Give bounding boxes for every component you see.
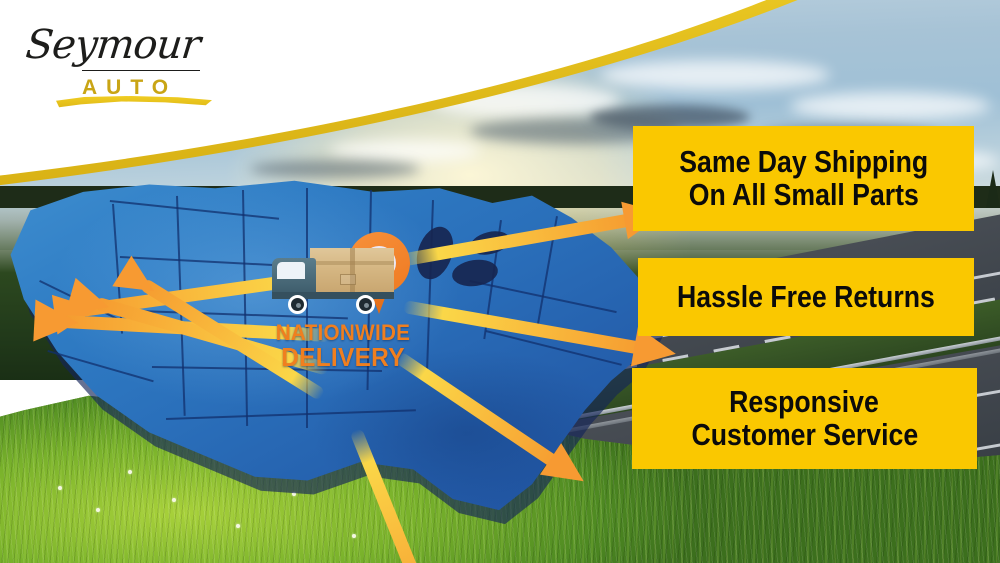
badge-line-2: DELIVERY: [268, 344, 418, 371]
truck-wheel: [288, 295, 307, 314]
nationwide-delivery-badge: NATIONWIDE DELIVERY: [263, 322, 423, 371]
box-tape: [350, 248, 355, 292]
seymour-auto-logo[interactable]: Seymour AUTO: [22, 18, 222, 110]
feature-box-same-day-shipping[interactable]: Same Day Shipping On All Small Parts: [633, 126, 974, 231]
logo-script-name: Seymour: [24, 22, 202, 68]
promo-banner: Seymour AUTO: [0, 0, 1000, 563]
feature-box-responsive-customer-service[interactable]: Responsive Customer Service: [632, 368, 977, 469]
feature-line-1: Responsive: [730, 386, 880, 419]
cloud-shape: [600, 60, 830, 90]
cloud-shape: [330, 140, 480, 162]
delivery-truck-icon: [272, 248, 394, 318]
feature-box-hassle-free-returns[interactable]: Hassle Free Returns: [638, 258, 974, 336]
logo-swoosh-icon: [56, 96, 212, 112]
logo-divider-line: [82, 70, 200, 71]
badge-line-1: NATIONWIDE: [268, 322, 418, 344]
tree-shape: [986, 170, 1000, 208]
feature-line-2: On All Small Parts: [688, 179, 918, 212]
feature-line-1: Hassle Free Returns: [677, 281, 935, 314]
cloud-shape: [790, 92, 990, 120]
truck-wheel: [356, 295, 375, 314]
feature-line-2: Customer Service: [691, 419, 918, 452]
feature-line-1: Same Day Shipping: [679, 146, 928, 179]
box-label: [340, 274, 356, 285]
truck-cab: [272, 258, 316, 292]
cargo-box: [310, 248, 394, 292]
truck-window: [277, 262, 305, 279]
